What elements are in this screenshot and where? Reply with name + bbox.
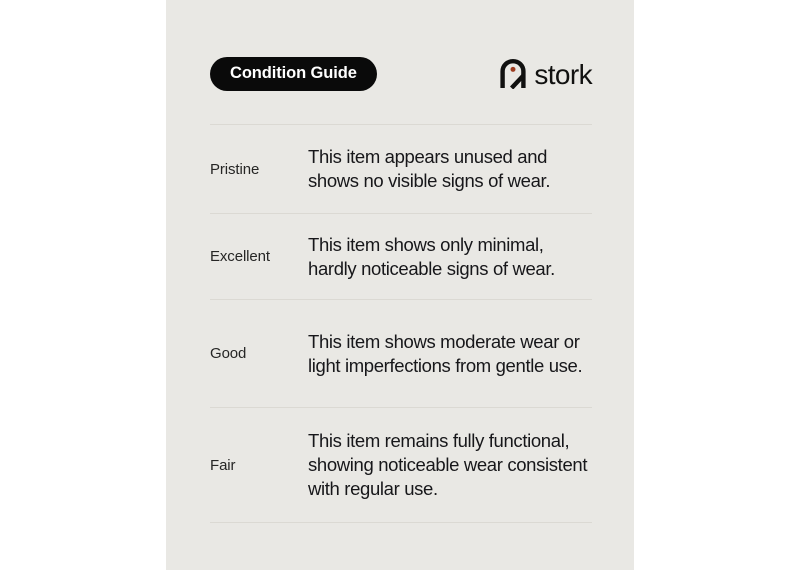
table-row: Fair This item remains fully functional,… [210, 408, 592, 522]
condition-description: This item remains fully functional, show… [308, 429, 592, 501]
condition-description: This item shows only minimal, hardly not… [308, 233, 592, 281]
table-row: Good This item shows moderate wear or li… [210, 300, 592, 407]
page-root: Condition Guide stork Pristine This item… [0, 0, 800, 570]
table-row: Excellent This item shows only minimal, … [210, 214, 592, 299]
condition-guide-badge[interactable]: Condition Guide [210, 57, 377, 91]
condition-description: This item appears unused and shows no vi… [308, 145, 592, 193]
condition-label: Excellent [210, 248, 308, 265]
condition-guide-card: Condition Guide stork Pristine This item… [166, 0, 634, 570]
condition-label: Pristine [210, 161, 308, 178]
table-row: Pristine This item appears unused and sh… [210, 125, 592, 213]
card-header: Condition Guide stork [210, 50, 592, 98]
brand-lockup: stork [500, 59, 592, 89]
stork-logo-mark-icon [500, 59, 527, 89]
condition-description: This item shows moderate wear or light i… [308, 330, 592, 378]
brand-wordmark: stork [534, 61, 592, 89]
condition-label: Fair [210, 457, 308, 474]
condition-label: Good [210, 345, 308, 362]
condition-guide-table: Pristine This item appears unused and sh… [210, 124, 592, 523]
table-divider-bottom [210, 522, 592, 523]
